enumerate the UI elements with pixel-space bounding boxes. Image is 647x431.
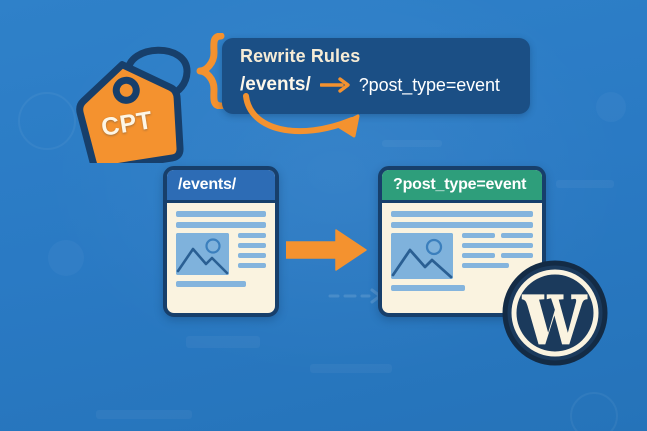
content-line [238,253,266,258]
content-line [238,243,266,248]
bg-deco-rect-5 [96,410,192,419]
bg-deco-rect-3 [382,140,442,147]
rule-target-query: ?post_type=event [359,75,500,96]
content-line [501,253,534,258]
card-body-pretty-permalink [167,203,275,301]
content-line [238,263,266,268]
bg-deco-ring-1 [18,92,76,150]
content-line [238,233,266,238]
content-line [176,211,266,217]
card-header-pretty-permalink: /events/ [167,170,275,203]
bg-deco-rect-2 [310,364,392,373]
card-header-query-string: ?post_type=event [382,170,542,203]
rule-maps-to-arrow-icon [320,77,350,93]
image-placeholder-icon [176,233,229,275]
bg-deco-rect-1 [186,336,260,348]
content-line [176,222,266,228]
transform-arrow-icon [286,228,368,272]
content-line [462,243,533,248]
cpt-tag: CPT [70,28,195,163]
content-line [501,233,534,238]
illustration-canvas: CPT Rewrite Rules /events/ ?post_type=ev… [0,0,647,431]
bg-deco-ring-2 [570,392,618,431]
image-placeholder-icon [391,233,453,279]
content-line [462,253,495,258]
rewrite-rules-panel: Rewrite Rules /events/ ?post_type=event [222,38,530,114]
bg-deco-rect-4 [556,180,614,188]
side-lines [238,233,266,275]
media-row [176,233,266,275]
content-line [462,233,495,238]
content-line [176,281,246,287]
content-line [391,222,533,228]
content-line [391,285,465,291]
bg-deco-circle-1 [48,240,84,276]
card-pretty-permalink[interactable]: /events/ [163,166,279,317]
rule-source-path: /events/ [240,74,311,96]
content-line [391,211,533,217]
content-line-pair [462,233,533,243]
card-header-label: /events/ [178,176,236,194]
card-header-label: ?post_type=event [393,176,526,194]
rewrite-rule-row: /events/ ?post_type=event [240,74,500,96]
rewrite-rules-title: Rewrite Rules [240,46,360,67]
bg-deco-circle-2 [596,92,626,122]
wordpress-logo [501,259,609,367]
